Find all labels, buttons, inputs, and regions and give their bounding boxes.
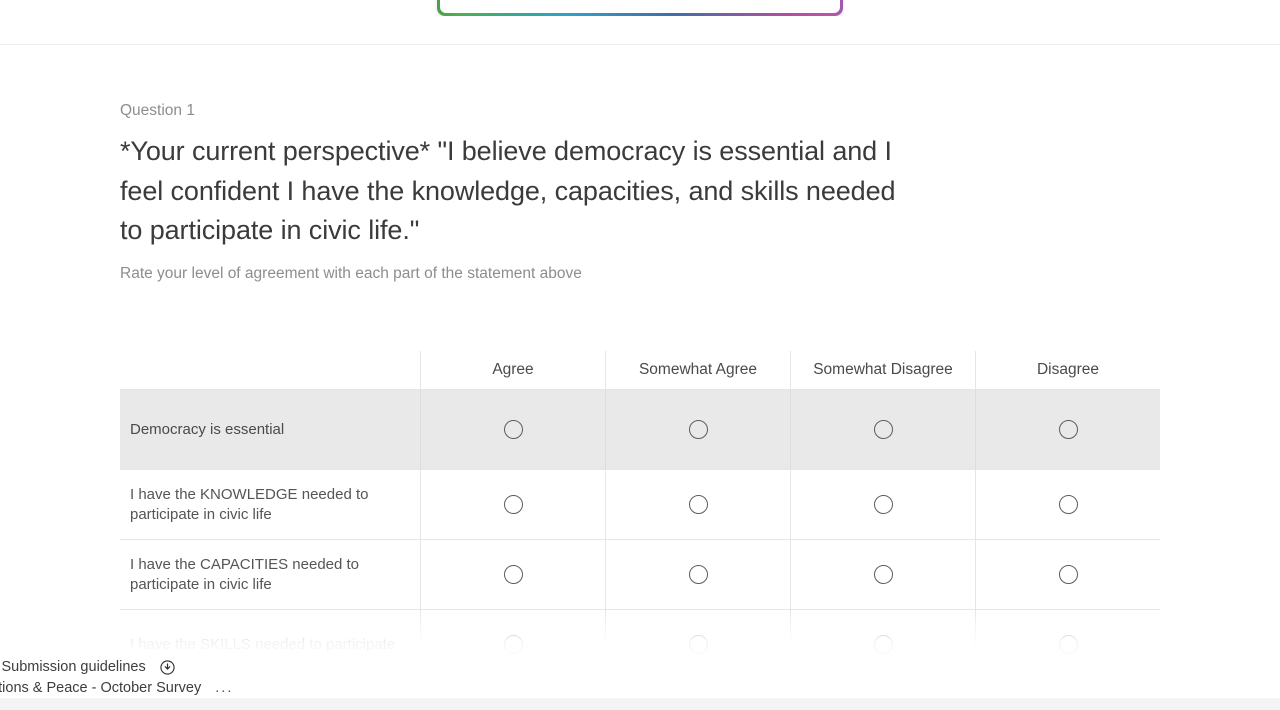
row-label-knowledge: I have the KNOWLEDGE needed to participa… (120, 470, 420, 539)
table-row: I have the KNOWLEDGE needed to participa… (120, 469, 1160, 539)
brand-banner-inner: GDG NextGen Insights (440, 0, 840, 13)
radio-cell-row0-somewhat-disagree[interactable] (790, 390, 975, 469)
column-header-disagree: Disagree (975, 351, 1160, 389)
rating-matrix: Agree Somewhat Agree Somewhat Disagree D… (120, 351, 1160, 679)
submission-guidelines-text[interactable]: nit password! Submission guidelines (0, 659, 146, 675)
download-circle-icon[interactable] (160, 660, 175, 675)
radio-button-icon[interactable] (1059, 635, 1078, 654)
question-block: Question 1 *Your current perspective* "I… (120, 100, 1170, 285)
radio-cell-row0-agree[interactable] (420, 390, 605, 469)
status-bar-line-1: nit password! Submission guidelines (0, 658, 175, 676)
matrix-header-corner (120, 351, 420, 389)
radio-button-icon[interactable] (504, 420, 523, 439)
bottom-strip (0, 698, 1280, 710)
table-row: I have the CAPACITIES needed to particip… (120, 539, 1160, 609)
question-subtitle: Rate your level of agreement with each p… (120, 263, 1170, 285)
radio-cell-row2-somewhat-disagree[interactable] (790, 540, 975, 609)
table-row: Democracy is essential (120, 389, 1160, 469)
survey-name-text[interactable]: ustice, Elections & Peace - October Surv… (0, 680, 201, 696)
radio-button-icon[interactable] (689, 420, 708, 439)
question-title: *Your current perspective* "I believe de… (120, 132, 920, 251)
radio-button-icon[interactable] (1059, 420, 1078, 439)
radio-cell-row0-somewhat-agree[interactable] (605, 390, 790, 469)
column-header-agree: Agree (420, 351, 605, 389)
column-header-somewhat-disagree: Somewhat Disagree (790, 351, 975, 389)
radio-button-icon[interactable] (874, 635, 893, 654)
radio-button-icon[interactable] (689, 495, 708, 514)
radio-cell-row1-disagree[interactable] (975, 470, 1160, 539)
more-options-icon[interactable]: ... (215, 679, 233, 697)
radio-button-icon[interactable] (689, 635, 708, 654)
radio-button-icon[interactable] (874, 495, 893, 514)
radio-cell-row0-disagree[interactable] (975, 390, 1160, 469)
top-banner-region: GDG NextGen Insights (0, 0, 1280, 16)
radio-cell-row1-somewhat-disagree[interactable] (790, 470, 975, 539)
status-bar: nit password! Submission guidelines usti… (0, 654, 1280, 698)
radio-cell-row1-somewhat-agree[interactable] (605, 470, 790, 539)
radio-cell-row2-disagree[interactable] (975, 540, 1160, 609)
row-label-capacities: I have the CAPACITIES needed to particip… (120, 540, 420, 609)
radio-cell-row2-agree[interactable] (420, 540, 605, 609)
column-header-somewhat-agree: Somewhat Agree (605, 351, 790, 389)
radio-button-icon[interactable] (504, 495, 523, 514)
radio-button-icon[interactable] (874, 565, 893, 584)
survey-page: GDG NextGen Insights Question 1 *Your cu… (0, 0, 1280, 710)
radio-button-icon[interactable] (504, 635, 523, 654)
header-divider (0, 44, 1280, 45)
radio-button-icon[interactable] (1059, 495, 1078, 514)
row-label-democracy-is-essential: Democracy is essential (120, 390, 420, 469)
radio-cell-row2-somewhat-agree[interactable] (605, 540, 790, 609)
status-bar-line-2: ustice, Elections & Peace - October Surv… (0, 679, 233, 697)
radio-cell-row1-agree[interactable] (420, 470, 605, 539)
brand-banner: GDG NextGen Insights (437, 0, 843, 16)
radio-button-icon[interactable] (1059, 565, 1078, 584)
question-number: Question 1 (120, 100, 1170, 122)
matrix-header-row: Agree Somewhat Agree Somewhat Disagree D… (120, 351, 1160, 389)
radio-button-icon[interactable] (689, 565, 708, 584)
radio-button-icon[interactable] (874, 420, 893, 439)
radio-button-icon[interactable] (504, 565, 523, 584)
